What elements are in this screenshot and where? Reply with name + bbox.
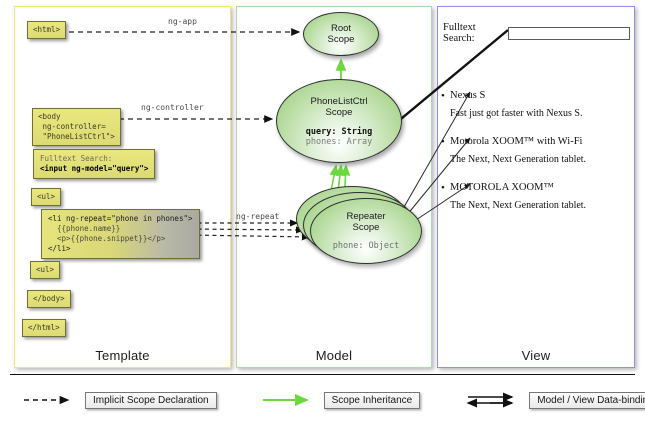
code-li-line2: {{phone.name}}: [48, 224, 120, 233]
scope-repeater-line1: Repeater: [346, 211, 385, 222]
view-item-title: •MOTOROLA XOOM™: [450, 182, 630, 193]
search-input[interactable]: [508, 27, 630, 40]
dashed-arrow-icon: [22, 392, 78, 408]
code-box-ul-close: <ul>: [30, 261, 60, 279]
panel-model-label: Model: [237, 348, 431, 363]
bullet-icon: •: [441, 91, 445, 101]
panel-template-label: Template: [15, 348, 230, 363]
code-li-line1: <li ng-repeat="phone in phones">: [48, 214, 193, 223]
bullet-icon: •: [441, 137, 445, 147]
panel-view-label: View: [438, 348, 634, 363]
code-box-html-close: </html>: [22, 319, 66, 337]
code-search-input-tag: <input ng-model="query">: [40, 164, 148, 173]
view-item-title-text: Nexus S: [450, 90, 485, 101]
view-item-title-text: Motorola XOOM™ with Wi-Fi: [450, 136, 582, 147]
label-ng-repeat: ng-repeat: [236, 212, 279, 221]
scope-root-line1: Root: [331, 23, 351, 34]
list-item: •Motorola XOOM™ with Wi-Fi The Next, Nex…: [450, 136, 630, 165]
list-item: •MOTOROLA XOOM™ The Next, Next Generatio…: [450, 182, 630, 211]
scope-ctrl-line2: Scope: [310, 107, 367, 118]
code-box-li-repeat: <li ng-repeat="phone in phones"> {{phone…: [41, 209, 200, 259]
code-li-line4: </li>: [48, 244, 71, 253]
scope-ctrl-title: PhoneListCtrl Scope: [310, 96, 367, 118]
view-item-title-text: MOTOROLA XOOM™: [450, 182, 554, 193]
label-ng-controller: ng-controller: [141, 103, 204, 112]
view-item-snippet: The Next, Next Generation tablet.: [450, 154, 630, 165]
view-item-snippet: Fast just got faster with Nexus S.: [450, 108, 630, 119]
code-box-search: Fulltext Search: <input ng-model="query"…: [33, 149, 155, 179]
legend-label: Implicit Scope Declaration: [85, 392, 217, 409]
view-item-snippet: The Next, Next Generation tablet.: [450, 200, 630, 211]
code-box-ul-open: <ul>: [31, 188, 61, 206]
green-arrow-icon: [261, 392, 317, 408]
scope-root-line2: Scope: [328, 34, 355, 45]
legend-separator: [10, 374, 635, 375]
code-search-label: Fulltext Search:: [40, 154, 112, 163]
legend-label: Model / View Data-binding: [529, 392, 645, 409]
scope-ctrl-field-query: query: String: [306, 127, 373, 137]
code-box-body-open: <body ng-controller= "PhoneListCtrl">: [32, 108, 121, 146]
code-box-html-open: <html>: [27, 21, 66, 39]
diagram-canvas: Template Model View <html>: [0, 0, 645, 425]
legend-entry-data-binding: Model / View Data-binding: [466, 392, 645, 409]
legend: Implicit Scope Declaration Scope Inherit…: [10, 383, 635, 417]
view-content: Fulltext Search: •Nexus S Fast just got …: [440, 10, 630, 230]
bullet-icon: •: [441, 183, 445, 193]
view-search-label: Fulltext Search:: [443, 22, 504, 44]
scope-root: Root Scope: [303, 12, 379, 56]
view-item-title: •Motorola XOOM™ with Wi-Fi: [450, 136, 630, 147]
list-item: •Nexus S Fast just got faster with Nexus…: [450, 90, 630, 119]
code-li-line3: <p>{{phone.snippet}}</p>: [48, 234, 165, 243]
scope-repeater: Repeater Scope phone: Object: [310, 198, 422, 264]
legend-entry-implicit-scope: Implicit Scope Declaration: [22, 392, 217, 409]
label-ng-app: ng-app: [168, 17, 197, 26]
view-item-title: •Nexus S: [450, 90, 630, 101]
panel-template: Template: [14, 6, 231, 368]
view-search-row: Fulltext Search:: [443, 22, 630, 44]
scope-ctrl-line1: PhoneListCtrl: [310, 96, 367, 107]
legend-entry-scope-inheritance: Scope Inheritance: [261, 392, 421, 409]
scope-repeater-line2: Scope: [346, 222, 385, 233]
scope-phonelistctrl: PhoneListCtrl Scope query: String phones…: [276, 79, 402, 163]
legend-label: Scope Inheritance: [324, 392, 421, 409]
code-box-body-close: </body>: [27, 290, 71, 308]
scope-repeater-title: Repeater Scope: [346, 211, 385, 233]
double-arrow-icon: [466, 392, 522, 408]
scope-repeater-field-phone: phone: Object: [333, 241, 400, 251]
scope-ctrl-field-phones: phones: Array: [306, 137, 373, 147]
